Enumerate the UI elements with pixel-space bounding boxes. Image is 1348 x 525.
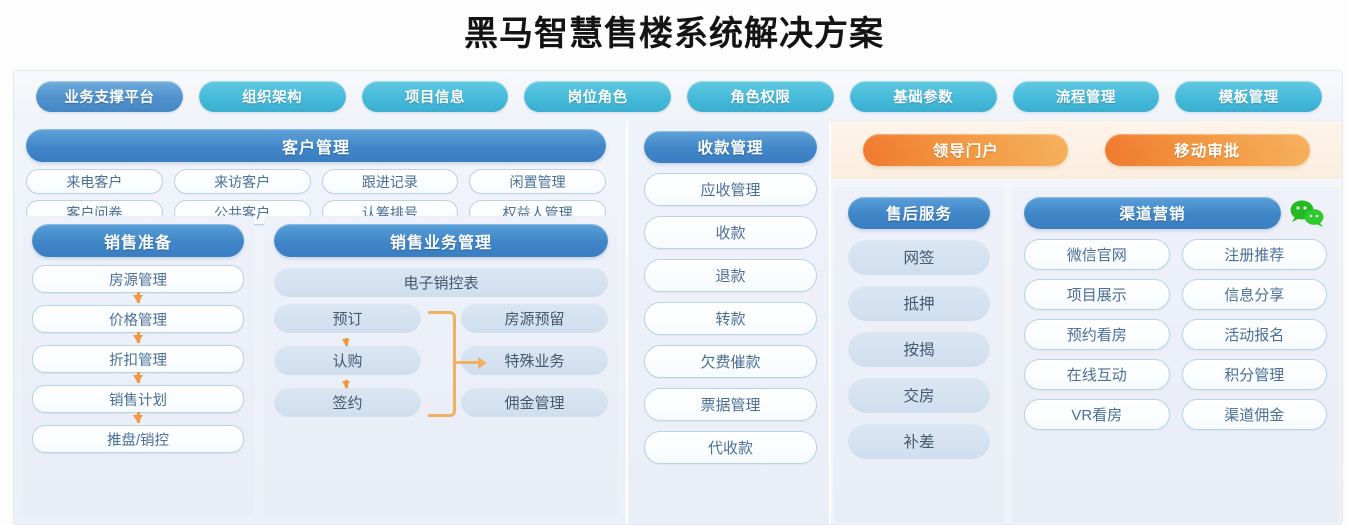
chip-reservation[interactable]: 预订 xyxy=(274,303,421,333)
channel-marketing-header-row: 渠道营销 xyxy=(1024,197,1327,229)
section-header-sales-business-management: 销售业务管理 xyxy=(274,224,608,257)
pill-business-support-platform[interactable]: 业务支撑平台 xyxy=(36,81,183,112)
chip-housing-reserve[interactable]: 房源预留 xyxy=(461,303,608,333)
chip-discount-management[interactable]: 折扣管理 xyxy=(32,345,244,373)
platform-pill-bar: 业务支撑平台 组织架构 项目信息 岗位角色 角色权限 基础参数 流程管理 模板管… xyxy=(14,71,1343,121)
chip-agency-collection[interactable]: 代收款 xyxy=(644,431,817,464)
sales-business-grid: 预订 房源预留 认购 特殊业务 签约 佣金管理 xyxy=(274,303,608,417)
chip-arrears-reminder[interactable]: 欠费催款 xyxy=(644,345,817,378)
chip-launch-sales-control[interactable]: 推盘/销控 xyxy=(32,425,244,453)
arrow-right-icon xyxy=(478,357,487,369)
portal-pill-bar: 领导门户 移动审批 xyxy=(831,121,1342,179)
chip-visiting-customer[interactable]: 来访客户 xyxy=(174,169,311,194)
pill-project-info[interactable]: 项目信息 xyxy=(362,81,509,112)
chip-online-contract[interactable]: 网签 xyxy=(848,239,990,275)
channel-marketing-grid: 微信官网 注册推荐 项目展示 信息分享 预约看房 活动报名 在线互动 积分管理 … xyxy=(1024,239,1327,430)
chip-contract-signing[interactable]: 签约 xyxy=(274,387,421,417)
bracket-connector xyxy=(428,311,456,417)
chip-subscription[interactable]: 认购 xyxy=(274,345,421,375)
arrow-down-icon xyxy=(133,415,143,423)
chip-viewing-appointment[interactable]: 预约看房 xyxy=(1024,319,1170,350)
chip-transfer[interactable]: 转款 xyxy=(644,302,817,335)
arrow-down-icon xyxy=(133,375,143,383)
chip-idle-management[interactable]: 闲置管理 xyxy=(469,169,606,194)
arrow-down-icon xyxy=(133,295,143,303)
section-header-customer-management: 客户管理 xyxy=(26,129,606,162)
chip-price-difference[interactable]: 补差 xyxy=(848,423,990,459)
chip-refund[interactable]: 退款 xyxy=(644,259,817,292)
pill-leader-portal[interactable]: 领导门户 xyxy=(863,134,1068,166)
section-header-payment-management: 收款管理 xyxy=(644,131,817,163)
chip-commission-management[interactable]: 佣金管理 xyxy=(461,387,608,417)
pill-position-role[interactable]: 岗位角色 xyxy=(524,81,671,112)
section-channel-marketing: 渠道营销 xyxy=(1012,187,1339,522)
bracket-stem xyxy=(456,361,480,364)
chip-registration-referral[interactable]: 注册推荐 xyxy=(1182,239,1328,270)
solution-board: 业务支撑平台 组织架构 项目信息 岗位角色 角色权限 基础参数 流程管理 模板管… xyxy=(13,70,1343,525)
chip-price-management[interactable]: 价格管理 xyxy=(32,305,244,333)
chip-channel-commission[interactable]: 渠道佣金 xyxy=(1182,399,1328,430)
chip-event-registration[interactable]: 活动报名 xyxy=(1182,319,1328,350)
chip-bill-management[interactable]: 票据管理 xyxy=(644,388,817,421)
chip-information-sharing[interactable]: 信息分享 xyxy=(1182,279,1328,310)
pill-process-management[interactable]: 流程管理 xyxy=(1013,81,1160,112)
section-header-after-sale-service: 售后服务 xyxy=(848,197,990,229)
zone-payment: 收款管理 应收管理 收款 退款 转款 欠费催款 票据管理 代收款 xyxy=(626,121,831,525)
chip-house-delivery[interactable]: 交房 xyxy=(848,377,990,413)
arrow-down-icon xyxy=(342,339,350,346)
pill-organization-structure[interactable]: 组织架构 xyxy=(199,81,346,112)
pill-basic-parameters[interactable]: 基础参数 xyxy=(850,81,997,112)
chip-electronic-sales-control-table[interactable]: 电子销控表 xyxy=(274,267,608,297)
zone-sales: 客户管理 来电客户 来访客户 跟进记录 闲置管理 客户问卷 公共客户 认筹排号 … xyxy=(14,121,626,525)
pill-template-management[interactable]: 模板管理 xyxy=(1175,81,1322,112)
arrow-down-icon xyxy=(342,381,350,388)
section-header-channel-marketing: 渠道营销 xyxy=(1024,197,1281,229)
chip-project-showcase[interactable]: 项目展示 xyxy=(1024,279,1170,310)
chip-follow-up-record[interactable]: 跟进记录 xyxy=(322,169,459,194)
pill-mobile-approval[interactable]: 移动审批 xyxy=(1105,134,1310,166)
page-title: 黑马智慧售楼系统解决方案 xyxy=(0,6,1348,55)
pill-role-permission[interactable]: 角色权限 xyxy=(687,81,834,112)
arrow-down-icon xyxy=(133,335,143,343)
section-after-sale-service: 售后服务 网签 抵押 按揭 交房 补差 xyxy=(834,187,1004,522)
chip-points-management[interactable]: 积分管理 xyxy=(1182,359,1328,390)
chip-mortgage-loan[interactable]: 按揭 xyxy=(848,331,990,367)
board-columns: 客户管理 来电客户 来访客户 跟进记录 闲置管理 客户问卷 公共客户 认筹排号 … xyxy=(14,121,1343,525)
sales-preparation-flow: 房源管理 价格管理 折扣管理 销售计划 推盘/销控 xyxy=(32,265,244,453)
chip-online-interaction[interactable]: 在线互动 xyxy=(1024,359,1170,390)
chip-incoming-call-customer[interactable]: 来电客户 xyxy=(26,169,163,194)
section-sales-business-management: 销售业务管理 电子销控表 预订 房源预留 认购 特殊业务 签约 佣金管理 xyxy=(264,216,618,516)
chip-vr-house-viewing[interactable]: VR看房 xyxy=(1024,399,1170,430)
chip-wechat-official-site[interactable]: 微信官网 xyxy=(1024,239,1170,270)
chip-collection[interactable]: 收款 xyxy=(644,216,817,249)
wechat-icon xyxy=(1287,198,1327,228)
chip-mortgage-pledge[interactable]: 抵押 xyxy=(848,285,990,321)
section-sales-preparation: 销售准备 房源管理 价格管理 折扣管理 销售计划 推盘/销控 xyxy=(22,216,254,516)
section-header-sales-preparation: 销售准备 xyxy=(32,224,244,257)
zone-service-channel: 领导门户 移动审批 售后服务 网签 抵押 按揭 交房 补差 渠道营销 xyxy=(831,121,1342,525)
infographic-root: 黑马智慧售楼系统解决方案 业务支撑平台 组织架构 项目信息 岗位角色 角色权限 … xyxy=(0,0,1348,525)
chip-housing-resource-management[interactable]: 房源管理 xyxy=(32,265,244,293)
chip-receivable-management[interactable]: 应收管理 xyxy=(644,173,817,206)
section-payment-management: 收款管理 应收管理 收款 退款 转款 欠费催款 票据管理 代收款 xyxy=(628,121,833,525)
chip-sales-plan[interactable]: 销售计划 xyxy=(32,385,244,413)
